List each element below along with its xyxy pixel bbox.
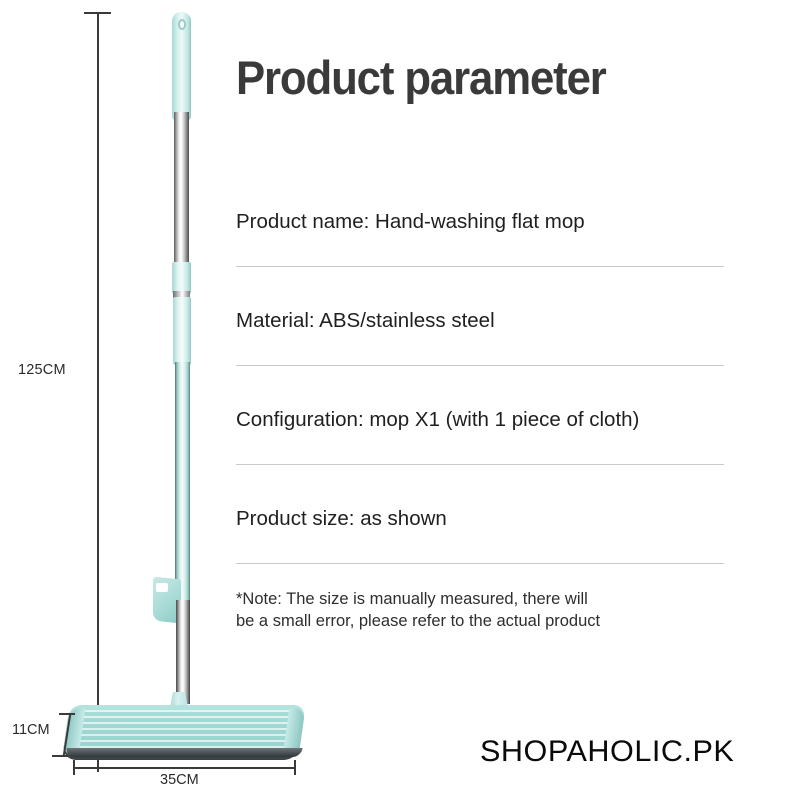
spec-text-material: Material: ABS/stainless steel xyxy=(236,309,728,334)
spacer xyxy=(236,334,728,365)
spec-divider-1 xyxy=(236,266,724,267)
height-dimension-label: 125CM xyxy=(18,362,66,378)
hanging-hole-icon xyxy=(178,19,186,30)
spec-divider-2 xyxy=(236,365,724,366)
mop-pole-upper-steel xyxy=(174,112,189,272)
page-title: Product parameter xyxy=(236,50,606,105)
spec-text-configuration: Configuration: mop X1 (with 1 piece of c… xyxy=(236,408,728,433)
spec-row-product-name: Product name: Hand-washing flat mop xyxy=(236,210,728,267)
spec-panel: Product parameter Product name: Hand-was… xyxy=(232,0,800,800)
spec-note: *Note: The size is manually measured, th… xyxy=(236,588,736,632)
spec-list: Product name: Hand-washing flat mop Mate… xyxy=(236,210,728,564)
mop-pole-lower-steel xyxy=(176,600,190,704)
spec-row-material: Material: ABS/stainless steel xyxy=(236,309,728,366)
height-dimension-line xyxy=(97,12,99,772)
spec-row-product-size: Product size: as shown xyxy=(236,507,728,564)
watermark-shopaholic: SHOPAHOLIC.PK xyxy=(480,735,734,769)
depth-dimension-bottom-cap xyxy=(52,755,68,757)
spec-divider-4 xyxy=(236,563,724,564)
spacer xyxy=(236,267,728,309)
spec-note-line-2: be a small error, please refer to the ac… xyxy=(236,610,736,632)
spacer xyxy=(236,366,728,408)
depth-dimension-top-cap xyxy=(59,713,75,715)
spec-row-configuration: Configuration: mop X1 (with 1 piece of c… xyxy=(236,408,728,465)
spacer xyxy=(236,532,728,563)
mop-pole-mint xyxy=(175,362,190,610)
spacer xyxy=(236,235,728,266)
product-figure: 125CM 11CM 35CM xyxy=(0,0,230,800)
spacer xyxy=(236,433,728,464)
mop-collar-upper xyxy=(172,262,191,294)
spacer xyxy=(236,465,728,507)
spec-note-line-1: *Note: The size is manually measured, th… xyxy=(236,588,736,610)
spec-text-product-name: Product name: Hand-washing flat mop xyxy=(236,210,728,235)
release-lever-notch xyxy=(156,583,168,592)
product-parameter-page: 125CM 11CM 35CM Product parameter P xyxy=(0,0,800,800)
mop-collar-lower xyxy=(173,297,191,365)
depth-dimension-label: 11CM xyxy=(12,722,50,738)
spec-text-product-size: Product size: as shown xyxy=(236,507,728,532)
spec-divider-3 xyxy=(236,464,724,465)
width-dimension-label: 35CM xyxy=(160,772,199,788)
